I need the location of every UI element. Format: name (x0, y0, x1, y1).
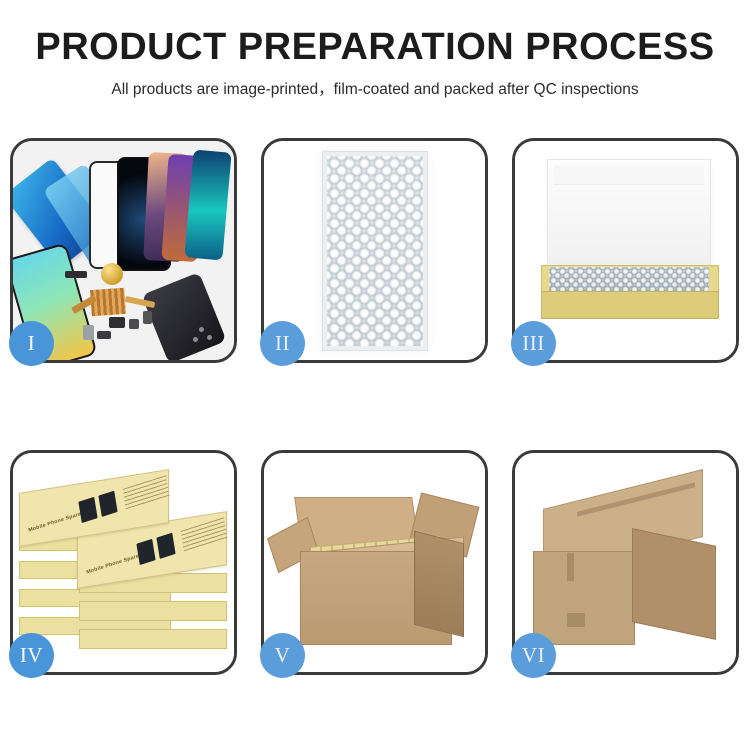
page-header: PRODUCT PREPARATION PROCESS All products… (0, 0, 750, 99)
bubble-wrapped-contents (549, 267, 709, 293)
sealed-carton-side-face (632, 528, 716, 640)
box-text-lines-2 (181, 517, 228, 552)
step-badge-6: VI (511, 633, 556, 678)
step-card-3: III Bubble-wrapped items placed into the… (512, 138, 739, 363)
bubble-pattern (327, 156, 423, 346)
phone-teal (184, 150, 231, 261)
retail-box-slab-r5 (79, 629, 227, 649)
phone-back-housing (141, 272, 226, 360)
process-steps-grid: I Assorted mobile phones, screens and sp… (10, 138, 740, 675)
box-screen-image-2 (98, 491, 117, 517)
carton-hand-hole-1 (567, 553, 574, 581)
button-part (143, 311, 152, 324)
camera-module-part (109, 317, 125, 328)
step-badge-2: II (260, 321, 305, 366)
step-card-5: V Retail boxes loaded into an outer ship… (261, 450, 488, 675)
step-badge-3: III (511, 321, 556, 366)
white-box-lid (547, 159, 711, 269)
battery-part (65, 271, 87, 278)
connector-part (129, 319, 139, 329)
step-card-1: I Assorted mobile phones, screens and sp… (10, 138, 237, 363)
yellow-box-front-panel (541, 291, 719, 319)
speaker-part-icon (101, 263, 123, 285)
product-preparation-page: PRODUCT PREPARATION PROCESS All products… (0, 0, 750, 750)
box-screen-image-4 (156, 533, 175, 559)
carton-hand-hole-2 (567, 613, 585, 627)
bubble-wrap-pouch (322, 151, 428, 351)
box-screen-image-3 (136, 539, 155, 565)
sim-tray-part (83, 325, 94, 340)
screw-part-1 (199, 327, 204, 332)
sealed-carton-front-face (533, 551, 635, 645)
step-card-4: Mobile Phone Spare Parts Mobile Phone Sp… (10, 450, 237, 675)
bracket-part (97, 331, 111, 339)
carton-side-face (414, 531, 464, 637)
chip-board-part (90, 288, 126, 316)
step-card-6: VI Sealed shipping carton ready for disp… (512, 450, 739, 675)
box-screen-image-1 (78, 497, 97, 523)
step-card-2: II Product sealed inside a bubble wrap p… (261, 138, 488, 363)
retail-box-slab-r4 (79, 601, 227, 621)
step-badge-5: V (260, 633, 305, 678)
page-title: PRODUCT PREPARATION PROCESS (0, 26, 750, 68)
screw-part-3 (193, 337, 198, 342)
step-badge-4: IV (9, 633, 54, 678)
step-badge-1: I (9, 321, 54, 366)
retail-box-stack: Mobile Phone Spare Parts Mobile Phone Sp… (19, 467, 227, 663)
screw-part-2 (207, 335, 212, 340)
page-subtitle: All products are image-printed，film-coat… (0, 77, 750, 99)
box-text-lines-1 (123, 475, 170, 510)
